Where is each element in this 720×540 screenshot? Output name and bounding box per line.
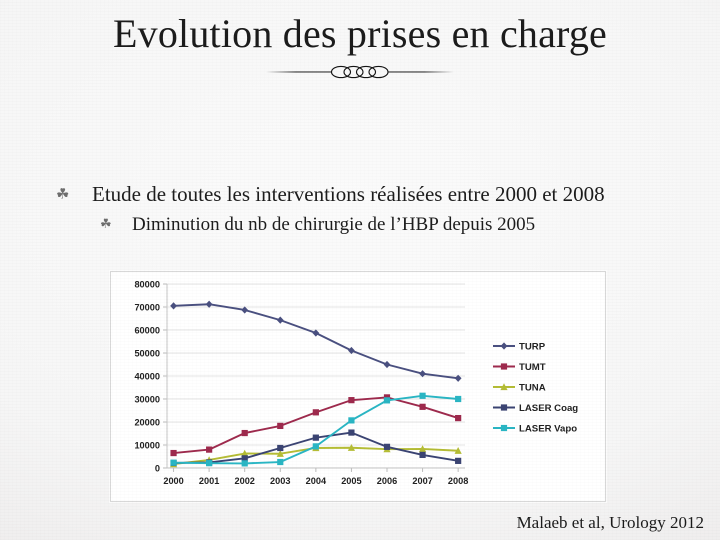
- line-chart: 0100002000030000400005000060000700008000…: [111, 272, 605, 501]
- data-point: [348, 429, 354, 435]
- legend-marker: [501, 363, 507, 369]
- series-turp: [170, 301, 461, 382]
- data-point: [277, 423, 283, 429]
- y-axis-label: 10000: [134, 440, 160, 450]
- x-axis-label: 2005: [341, 476, 361, 486]
- series-laser-vapo: [170, 393, 461, 467]
- data-point: [313, 435, 319, 441]
- legend-label: TURP: [519, 342, 546, 353]
- y-axis-label: 60000: [134, 325, 160, 335]
- data-point: [455, 396, 461, 402]
- y-axis-label: 20000: [134, 417, 160, 427]
- data-point: [348, 417, 354, 423]
- data-point: [348, 397, 354, 403]
- sub-bullet-glyph-icon: ☘: [100, 212, 132, 238]
- data-point: [313, 443, 319, 449]
- chart-legend: TURPTUMTTUNALASER CoagLASER Vapo: [493, 342, 578, 435]
- sub-bullet-text: Diminution du nb de chirurgie de l’HBP d…: [132, 212, 535, 238]
- data-point: [170, 460, 176, 466]
- data-point: [170, 302, 177, 309]
- flourish-divider-icon: [0, 62, 720, 82]
- data-point: [170, 450, 176, 456]
- x-axis-label: 2000: [163, 476, 183, 486]
- data-point: [242, 430, 248, 436]
- slide-canvas: Evolution des prises en charge: [0, 0, 720, 540]
- data-point: [419, 452, 425, 458]
- bullet-item-level1: ☘ Etude de toutes les interventions réal…: [56, 180, 680, 208]
- x-axis-label: 2001: [199, 476, 219, 486]
- bullet-item-level2: ☘ Diminution du nb de chirurgie de l’HBP…: [56, 212, 680, 238]
- legend-label: LASER Vapo: [519, 424, 577, 435]
- data-point: [455, 458, 461, 464]
- data-point: [419, 393, 425, 399]
- x-axis-label: 2007: [412, 476, 432, 486]
- y-axis-label: 50000: [134, 348, 160, 358]
- chart-svg: 0100002000030000400005000060000700008000…: [111, 272, 607, 503]
- legend-label: LASER Coag: [519, 403, 578, 414]
- legend-label: TUNA: [519, 383, 546, 394]
- y-axis-label: 80000: [134, 279, 160, 289]
- legend-marker: [501, 425, 507, 431]
- data-point: [277, 445, 283, 451]
- data-point: [384, 397, 390, 403]
- data-point: [455, 415, 461, 421]
- x-axis-label: 2003: [270, 476, 290, 486]
- data-point: [384, 361, 391, 368]
- x-axis-label: 2006: [377, 476, 397, 486]
- y-axis-label: 70000: [134, 302, 160, 312]
- legend-marker: [501, 342, 508, 349]
- x-axis-label: 2008: [448, 476, 468, 486]
- bullet-glyph-icon: ☘: [56, 180, 92, 208]
- data-point: [277, 317, 284, 324]
- data-point: [419, 404, 425, 410]
- source-citation: Malaeb et al, Urology 2012: [517, 513, 704, 533]
- data-point: [277, 459, 283, 465]
- x-axis-label: 2004: [306, 476, 327, 486]
- x-axis-label: 2002: [234, 476, 254, 486]
- y-axis-label: 0: [155, 463, 160, 473]
- chart-container: 0100002000030000400005000060000700008000…: [110, 271, 606, 502]
- title-block: Evolution des prises en charge: [0, 8, 720, 82]
- bullet-text: Etude de toutes les interventions réalis…: [92, 180, 605, 208]
- data-point: [384, 444, 390, 450]
- data-point: [206, 460, 212, 466]
- y-axis-label: 40000: [134, 371, 160, 381]
- legend-marker: [501, 404, 507, 410]
- data-point: [242, 460, 248, 466]
- page-title: Evolution des prises en charge: [0, 8, 720, 60]
- bullet-list: ☘ Etude de toutes les interventions réal…: [56, 180, 680, 238]
- series-line: [174, 304, 459, 378]
- legend-label: TUMT: [519, 362, 546, 373]
- y-axis-label: 30000: [134, 394, 160, 404]
- data-point: [206, 447, 212, 453]
- data-point: [313, 409, 319, 415]
